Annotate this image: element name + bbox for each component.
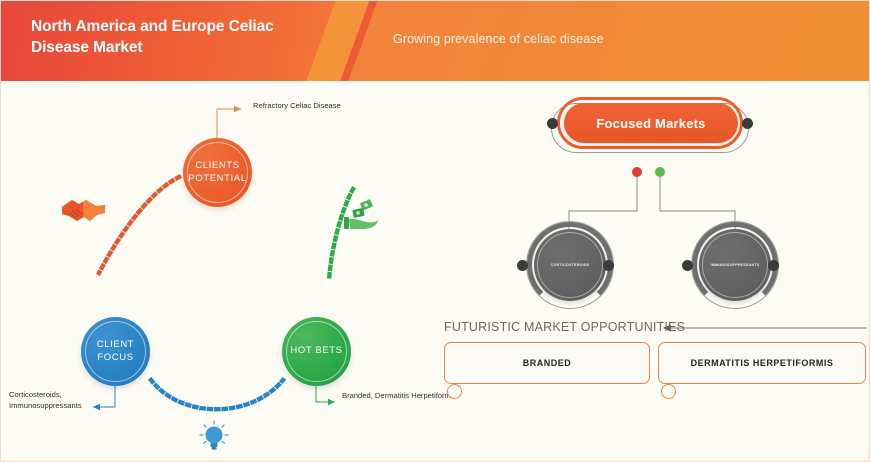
opportunity-node-branded: [447, 384, 462, 399]
market-node-immunosuppressants-right: [768, 260, 779, 271]
opportunity-card-branded[interactable]: BRANDED: [444, 342, 650, 384]
focused-markets-button[interactable]: Focused Markets: [564, 103, 738, 143]
green-status-dot: [655, 167, 665, 177]
bubble-label: CLIENTS POTENTIAL: [183, 160, 252, 186]
page-header: North America and Europe Celiac Disease …: [1, 1, 870, 81]
bubble-label: HOT BETS: [290, 345, 342, 358]
diagram-canvas: CLIENTS POTENTIAL CLIENT FOCUS HOT BETS …: [1, 81, 870, 462]
red-status-dot: [632, 167, 642, 177]
focused-markets-node-left: [547, 118, 558, 129]
hand-money-icon: [343, 199, 383, 238]
connector-hot-bets: [316, 386, 335, 402]
dotted-arc-orange: [99, 177, 179, 273]
arrowhead-clients-potential: [234, 106, 241, 112]
page-title: North America and Europe Celiac Disease …: [31, 17, 331, 59]
annotation-refractory-celiac-disease: Refractory Celiac Disease: [253, 100, 363, 111]
infographic-page: North America and Europe Celiac Disease …: [0, 0, 870, 462]
handshake-icon: [59, 193, 109, 232]
opportunity-card-dermatitis-herpetiformis[interactable]: DERMATITIS HERPETIFORMIS: [658, 342, 866, 384]
bubble-client-focus[interactable]: CLIENT FOCUS: [81, 317, 150, 386]
market-node-corticosteroids-left: [517, 260, 528, 271]
bubble-clients-potential[interactable]: CLIENTS POTENTIAL: [183, 138, 252, 207]
market-circle-corticosteroids[interactable]: CORTICOSTEROIDS: [534, 229, 606, 301]
market-node-immunosuppressants-left: [682, 260, 693, 271]
market-node-corticosteroids-right: [603, 260, 614, 271]
futuristic-opportunities-title: FUTURISTIC MARKET OPPORTUNITIES: [444, 320, 685, 334]
connector-right-market: [660, 177, 735, 229]
lightbulb-icon: [199, 420, 229, 459]
market-circle-label: IMMUNOSUPPRESSANTS: [711, 263, 760, 267]
market-circle-immunosuppressants[interactable]: IMMUNOSUPPRESSANTS: [699, 229, 771, 301]
annotation-branded: Branded, Dermatitis Herpetiformis: [342, 390, 462, 401]
opportunity-node-dermatitis-herpetiformis: [661, 384, 676, 399]
page-subtitle: Growing prevalence of celiac disease: [393, 32, 604, 46]
dotted-arc-blue: [151, 380, 283, 409]
bubble-label: CLIENT FOCUS: [81, 339, 150, 365]
market-circle-label: CORTICOSTEROIDS: [551, 263, 590, 267]
bubble-hot-bets[interactable]: HOT BETS: [282, 317, 351, 386]
connector-clients-potential: [217, 109, 241, 138]
arrowhead-hot-bets: [328, 399, 335, 405]
focused-markets-node-right: [742, 118, 753, 129]
annotation-corticosteroids: Corticosteroids, Immunosuppressants: [9, 389, 114, 411]
